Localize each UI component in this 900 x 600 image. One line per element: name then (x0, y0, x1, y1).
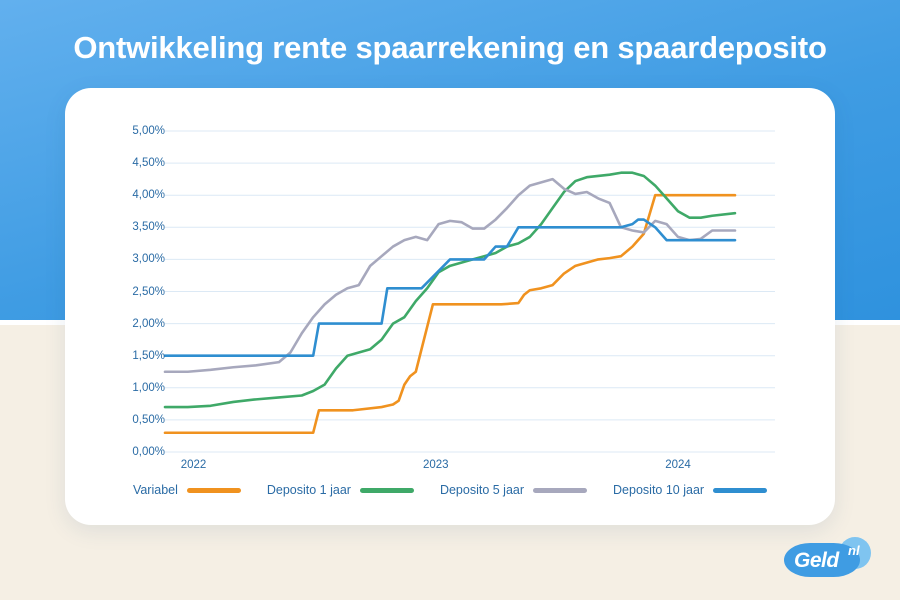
x-axis-tick-label: 2024 (665, 459, 691, 471)
y-axis-tick-label: 0,50% (132, 414, 165, 426)
series-lines (165, 173, 735, 433)
legend-item[interactable]: Deposito 1 jaar (267, 483, 414, 497)
series-line (165, 195, 735, 433)
page-title: Ontwikkeling rente spaarrekening en spaa… (0, 30, 900, 66)
legend-color-swatch (187, 488, 241, 493)
y-axis-tick-label: 1,00% (132, 382, 165, 394)
y-axis-tick-label: 4,50% (132, 157, 165, 169)
legend-item[interactable]: Variabel (133, 483, 241, 497)
chart-legend: VariabelDeposito 1 jaarDeposito 5 jaarDe… (65, 483, 835, 497)
plot-area: 5,00%4,50%4,00%3,50%3,00%2,50%2,00%1,50%… (65, 88, 835, 525)
y-axis-ticks: 5,00%4,50%4,00%3,50%3,00%2,50%2,00%1,50%… (95, 88, 165, 525)
legend-item-label: Deposito 10 jaar (613, 483, 704, 497)
chart-card: 5,00%4,50%4,00%3,50%3,00%2,50%2,00%1,50%… (65, 88, 835, 525)
y-axis-tick-label: 3,50% (132, 221, 165, 233)
series-line (165, 220, 735, 356)
y-axis-tick-label: 3,00% (132, 253, 165, 265)
legend-color-swatch (533, 488, 587, 493)
legend-color-swatch (360, 488, 414, 493)
legend-color-swatch (713, 488, 767, 493)
x-axis-tick-label: 2023 (423, 459, 449, 471)
series-line (165, 179, 735, 372)
geld-nl-logo[interactable]: Geld nl (784, 537, 880, 583)
logo-wordmark: Geld (794, 549, 839, 573)
legend-item[interactable]: Deposito 5 jaar (440, 483, 587, 497)
y-axis-tick-label: 4,00% (132, 189, 165, 201)
y-axis-tick-label: 5,00% (132, 125, 165, 137)
y-axis-tick-label: 2,50% (132, 286, 165, 298)
legend-item-label: Deposito 5 jaar (440, 483, 524, 497)
series-line (165, 173, 735, 407)
y-axis-tick-label: 1,50% (132, 350, 165, 362)
x-axis-tick-label: 2022 (181, 459, 207, 471)
gridlines (165, 131, 775, 452)
legend-item-label: Variabel (133, 483, 178, 497)
legend-item-label: Deposito 1 jaar (267, 483, 351, 497)
y-axis-tick-label: 0,00% (132, 446, 165, 458)
y-axis-tick-label: 2,00% (132, 318, 165, 330)
legend-item[interactable]: Deposito 10 jaar (613, 483, 767, 497)
infographic-page: Ontwikkeling rente spaarrekening en spaa… (0, 0, 900, 600)
logo-tld: nl (848, 543, 860, 558)
